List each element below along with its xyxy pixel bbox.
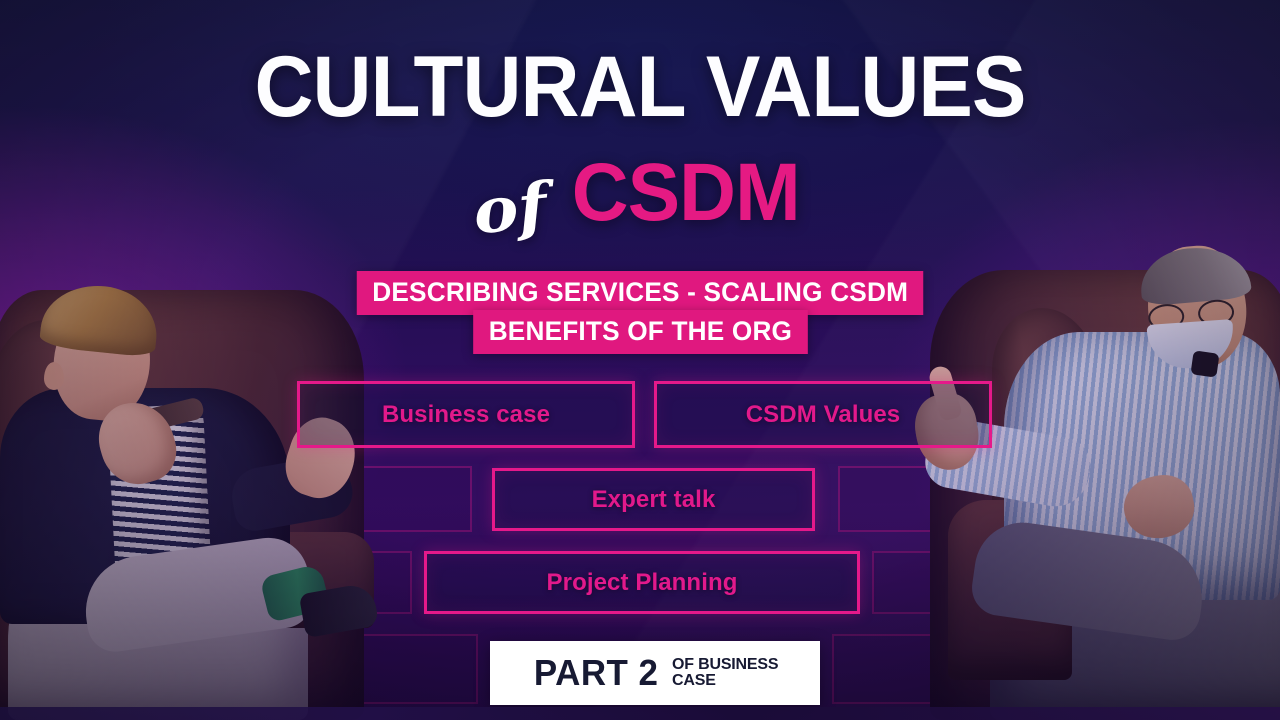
part-badge-subtitle-line1: OF BUSINESS [672,656,778,673]
title-accent-csdm: CSDM [572,152,800,234]
title-connector-of: of [471,174,551,243]
title-subline: ofCSDM [0,152,1280,234]
banner-line-1-text: DESCRIBING SERVICES - SCALING CSDM [357,271,924,315]
part-badge: PART 2 OF BUSINESS CASE [490,641,820,705]
banner-line-2: BENEFITS OF THE ORG [0,310,1280,354]
part-badge-number: PART 2 [534,652,659,694]
topic-box-csdm-values[interactable]: CSDM Values [654,381,992,448]
bottom-strip [0,707,1280,720]
part-badge-subtitle-line2: CASE [672,672,716,689]
banner-line-1: DESCRIBING SERVICES - SCALING CSDM [0,271,1280,315]
banner-line-2-text: BENEFITS OF THE ORG [473,310,807,354]
part-badge-subtitle: OF BUSINESS CASE [672,657,778,690]
page-title: CULTURAL VALUES [32,46,1248,129]
thumbnail-stage: CULTURAL VALUES ofCSDM DESCRIBING SERVIC… [0,0,1280,720]
topic-box-business-case[interactable]: Business case [297,381,635,448]
overlay-text-layer: CULTURAL VALUES ofCSDM DESCRIBING SERVIC… [0,0,1280,720]
topic-box-project-planning[interactable]: Project Planning [424,551,860,614]
topic-box-expert-talk[interactable]: Expert talk [492,468,815,531]
